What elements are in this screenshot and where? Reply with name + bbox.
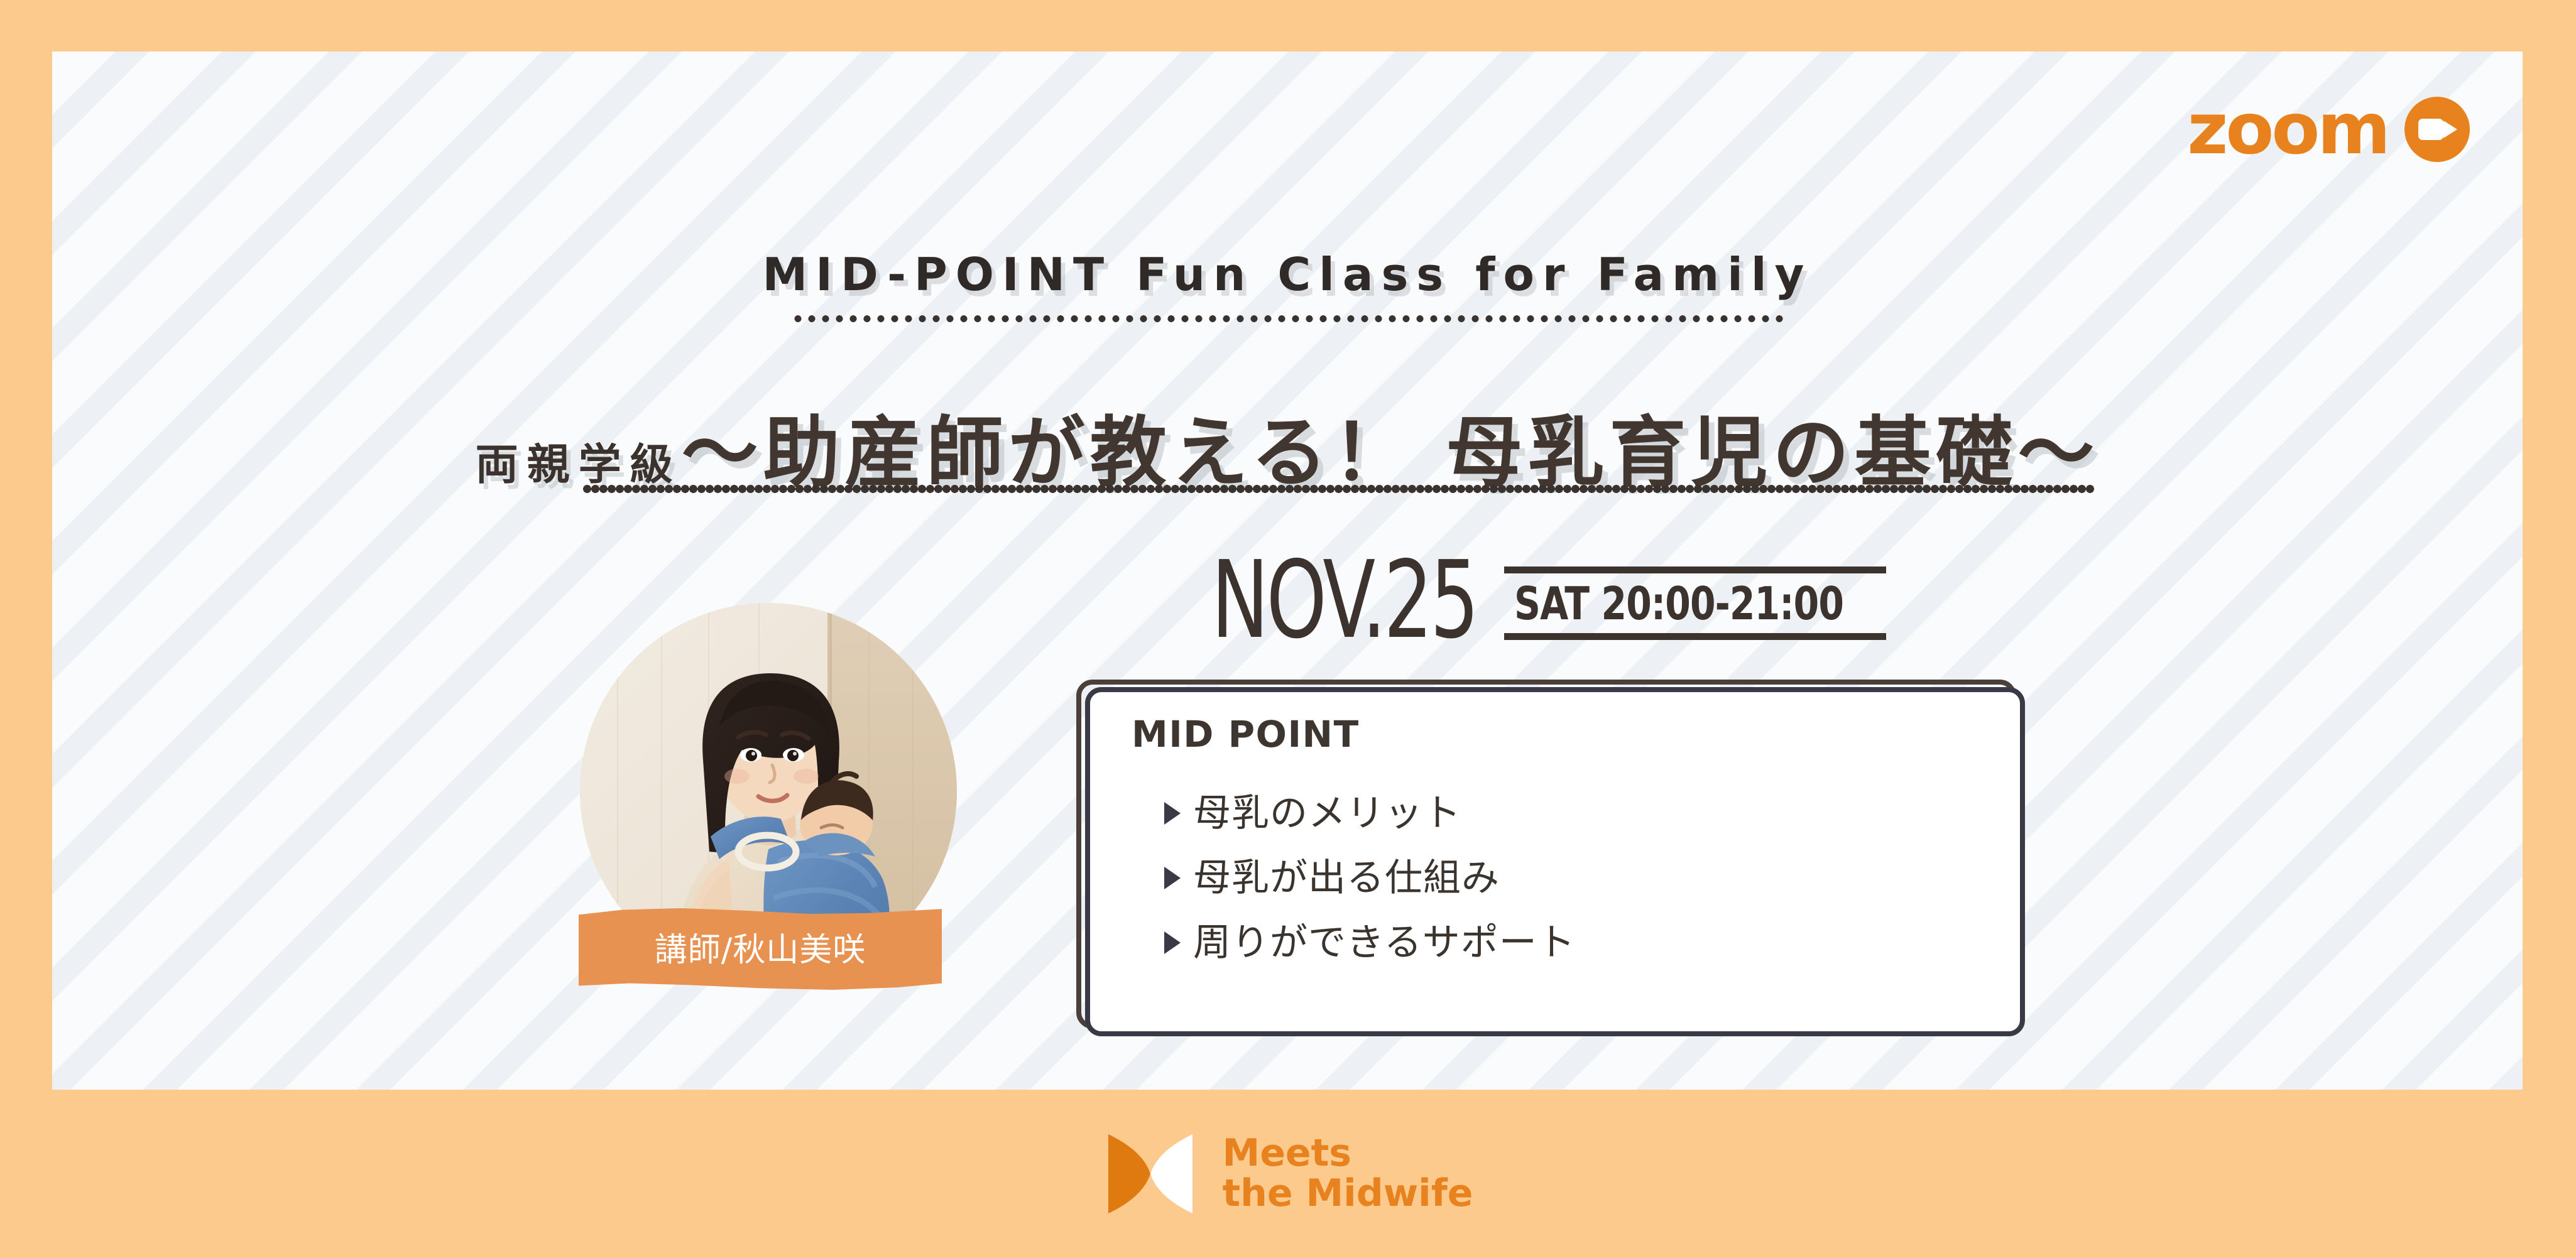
footer-brand: Meets the Midwife xyxy=(0,1090,2576,1258)
midpoint-list: 母乳のメリット 母乳が出る仕組み 周りができるサポート xyxy=(1164,793,1576,987)
brand-wordmark: Meets the Midwife xyxy=(1223,1134,1473,1213)
content-panel: zoom MID-POINT Fun Class for Family 両親学級… xyxy=(52,52,2523,1090)
midpoint-heading: MID POINT xyxy=(1132,716,1360,752)
instructor-name: 講師/秋山美咲 xyxy=(655,931,866,967)
instructor-photo-block: 講師/秋山美咲 xyxy=(580,603,957,980)
zoom-logo: zoom xyxy=(2187,94,2470,165)
title-block: 両親学級〜助産師が教える！ 母乳育児の基礎〜 xyxy=(52,391,2523,502)
instructor-name-badge: 講師/秋山美咲 xyxy=(579,908,942,990)
list-item-label: 母乳のメリット xyxy=(1193,793,1461,834)
date-weekday-time: SAT 20:00-21:00 xyxy=(1514,577,1843,631)
list-item-label: 周りができるサポート xyxy=(1193,922,1576,963)
title-dotted-rule xyxy=(583,485,2094,493)
date-time-frame: SAT 20:00-21:00 xyxy=(1504,567,1886,640)
midpoint-box-frame: MID POINT 母乳のメリット 母乳が出る仕組み 周りができるサポート xyxy=(1085,687,2025,1036)
eyebrow-dotted-rule xyxy=(791,315,1784,322)
zoom-video-camera-icon xyxy=(2404,97,2470,162)
meets-the-midwife-m-mark xyxy=(1103,1124,1198,1223)
list-item: 母乳が出る仕組み xyxy=(1164,857,1576,899)
date-block: NOV.25 SAT 20:00-21:00 xyxy=(1211,551,1886,650)
triangle-right-icon xyxy=(1164,802,1181,825)
brand-line-2: the Midwife xyxy=(1223,1174,1473,1214)
flyer-root: zoom MID-POINT Fun Class for Family 両親学級… xyxy=(0,0,2576,1258)
eyebrow-text: MID-POINT Fun Class for Family xyxy=(763,251,1813,299)
list-item-label: 母乳が出る仕組み xyxy=(1193,857,1500,899)
triangle-right-icon xyxy=(1164,867,1181,889)
eyebrow-block: MID-POINT Fun Class for Family xyxy=(52,251,2523,322)
zoom-wordmark: zoom xyxy=(2187,94,2388,165)
list-item: 母乳のメリット xyxy=(1164,793,1576,834)
title-prefix: 両親学級 xyxy=(476,440,682,490)
date-month-day: NOV.25 xyxy=(1211,551,1476,650)
list-item: 周りができるサポート xyxy=(1164,922,1576,963)
brand-line-1: Meets xyxy=(1223,1134,1473,1174)
triangle-right-icon xyxy=(1164,931,1181,954)
title-main: 〜助産師が教える！ 母乳育児の基礎〜 xyxy=(682,408,2100,497)
midpoint-box: MID POINT 母乳のメリット 母乳が出る仕組み 周りができるサポート xyxy=(1076,680,2025,1036)
